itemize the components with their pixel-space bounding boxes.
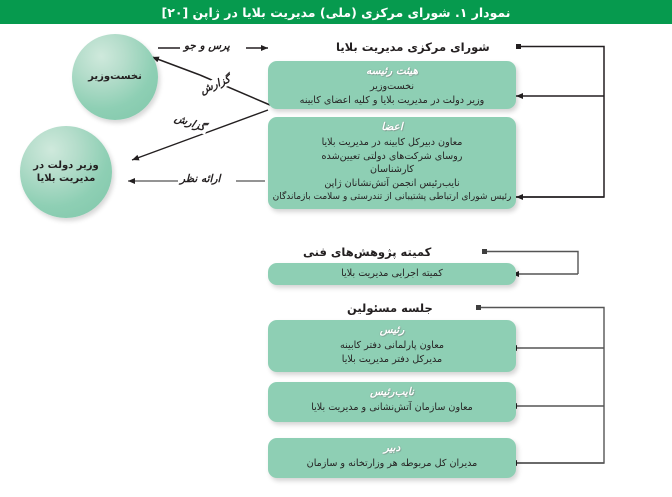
box-members[interactable]: اعضا معاون دبیرکل کابینه در مدیریت بلایا… [268, 117, 516, 209]
heading-technical-research-committee: کمیته پژوهش‌های فنی [303, 245, 431, 259]
wire-bracket-council [516, 44, 604, 197]
heading-central-council: شورای مرکزی مدیریت بلایا [336, 40, 490, 54]
box-vice-chairman-header: نایب‌رئیس [268, 385, 516, 400]
box-secretary-line-0: مدیران کل مربوطه هر وزارتخانه و سازمان [268, 457, 516, 471]
box-members-header: اعضا [268, 120, 516, 135]
box-board-of-directors[interactable]: هیئت رئیسه نخست‌وزیر وزیر دولت در مدیریت… [268, 61, 516, 109]
box-members-line-1: روسای شرکت‌های دولتی تعیین‌شده [268, 150, 516, 164]
box-secretary[interactable]: دبیر مدیران کل مربوطه هر وزارتخانه و ساز… [268, 438, 516, 478]
box-board-of-directors-header: هیئت رئیسه [268, 64, 516, 79]
box-chairman[interactable]: رئیس معاون پارلمانی دفتر کابینه مدیرکل د… [268, 320, 516, 372]
edge-label-report-bottom: گزارش [171, 111, 209, 134]
box-vice-chairman[interactable]: نایب‌رئیس معاون سازمان آتش‌نشانی و مدیری… [268, 382, 516, 422]
edge-label-inquiry: پرس و جو [182, 40, 232, 52]
box-members-line-3: نایب‌رئیس انجمن آتش‌نشانان ژاپن [268, 177, 516, 191]
diagram-root: نمودار ۱. شورای مرکزی (ملی) مدیریت بلایا… [0, 0, 672, 497]
box-members-line-0: معاون دبیرکل کابینه در مدیریت بلایا [268, 136, 516, 150]
diagram-title-bar: نمودار ۱. شورای مرکزی (ملی) مدیریت بلایا… [0, 0, 672, 24]
circle-state-minister[interactable]: وزیر دولت درمدیریت بلایا [20, 126, 112, 218]
circle-prime-minister[interactable]: نخست‌وزیر [72, 34, 158, 120]
edge-label-report-top: گزارش [196, 72, 233, 97]
box-secretary-header: دبیر [268, 441, 516, 456]
circle-state-minister-label: وزیر دولت درمدیریت بلایا [27, 159, 105, 186]
wire-report-bottom [132, 110, 268, 160]
box-vice-chairman-line-0: معاون سازمان آتش‌نشانی و مدیریت بلایا [268, 401, 516, 415]
box-executive-committee-line-0: کمیته اجرایی مدیریت بلایا [268, 267, 516, 281]
box-chairman-line-1: مدیرکل دفتر مدیریت بلایا [268, 353, 516, 367]
box-executive-committee[interactable]: کمیته اجرایی مدیریت بلایا [268, 263, 516, 285]
diagram-title-text: نمودار ۱. شورای مرکزی (ملی) مدیریت بلایا… [161, 5, 510, 20]
box-members-line-2: کارشناسان [268, 163, 516, 177]
box-board-of-directors-line-0: نخست‌وزیر [268, 80, 516, 94]
box-chairman-line-0: معاون پارلمانی دفتر کابینه [268, 339, 516, 353]
circle-prime-minister-label: نخست‌وزیر [82, 70, 148, 84]
box-chairman-header: رئیس [268, 323, 516, 338]
heading-officials-meeting: جلسه مسئولین [347, 301, 433, 315]
box-board-of-directors-line-1: وزیر دولت در مدیریت بلایا و کلیه اعضای ک… [268, 94, 516, 108]
box-members-line-4: رئیس شورای ارتباطی پشتیبانی از تندرستی و… [268, 191, 516, 204]
edge-label-opinion: ارائه نظر [178, 173, 222, 185]
